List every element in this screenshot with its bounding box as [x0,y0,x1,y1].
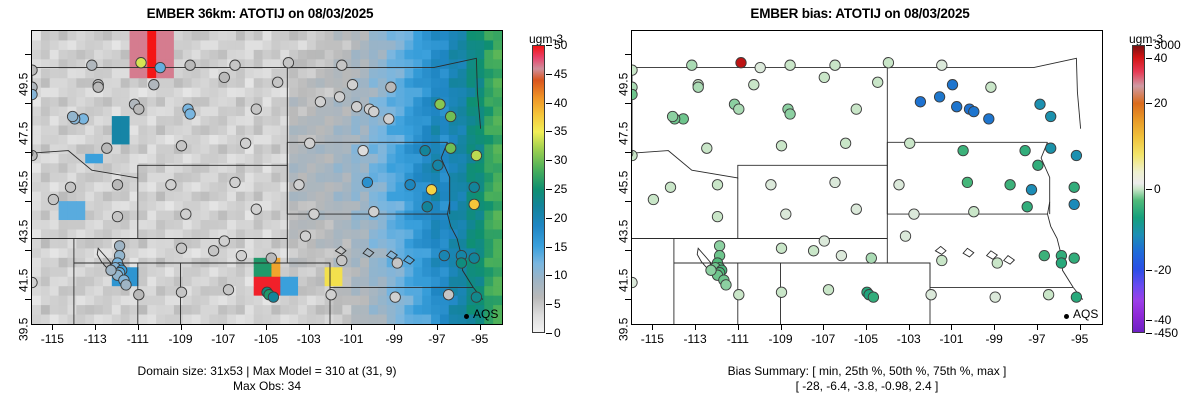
model-footer: Domain size: 31x53 | Max Model = 310 at … [0,364,534,394]
x-tick-label: -97 [428,332,445,346]
model-panel: EMBER 36km: ATOTIJ on 08/03/2025 AQS -11… [0,0,600,409]
y-tick [25,54,31,55]
x-tick [695,325,696,330]
model-colorbar-gradient [532,45,545,333]
y-tick [625,103,631,104]
colorbar-tick [546,189,552,190]
y-tick [625,299,631,300]
y-tick [25,299,31,300]
bias-footer-line1: Bias Summary: [ min, 25th %, 50th %, 75t… [600,364,1134,379]
colorbar-tick-label: 45 [554,67,567,81]
x-tick-label: -115 [641,332,664,346]
x-tick-label: -113 [684,332,707,346]
aqs-legend-label: AQS [1073,307,1098,321]
x-tick [951,325,952,330]
colorbar-tick-label: -450 [1154,326,1178,340]
colorbar-tick-label: 30 [554,153,567,167]
colorbar-tick-label: 0 [1154,182,1161,196]
bias-x-axis: -115-113-111-109-107-105-103-101-99-97-9… [631,325,1103,355]
x-tick-label: -109 [169,332,193,346]
colorbar-tick [1146,103,1152,104]
colorbar-tick [546,304,552,305]
colorbar-tick [1146,45,1152,46]
x-tick [309,325,310,330]
colorbar-tick-label: 3000 [1154,38,1181,52]
y-tick-label: 49.5 [16,73,30,96]
x-tick [738,325,739,330]
bias-panel: EMBER bias: ATOTIJ on 08/03/2025 AQS -11… [600,0,1200,409]
bias-y-axis: 49.547.545.543.541.539.5 [600,30,631,325]
colorbar-tick [546,218,552,219]
model-y-axis: 49.547.545.543.541.539.5 [0,30,31,325]
colorbar-tick [546,275,552,276]
colorbar-tick-label: 35 [554,124,567,138]
y-tick [25,152,31,153]
aqs-legend-label: AQS [473,307,498,321]
y-tick [25,201,31,202]
colorbar-tick [1146,270,1152,271]
colorbar-tick [546,160,552,161]
x-tick-label: -115 [41,332,64,346]
y-tick [625,152,631,153]
x-tick-label: -97 [1028,332,1045,346]
x-tick [994,325,995,330]
x-tick-label: -101 [939,332,963,346]
colorbar-tick-label: 20 [1154,96,1167,110]
colorbar-tick-label: 25 [554,182,567,196]
x-tick [266,325,267,330]
x-tick [823,325,824,330]
colorbar-tick [546,333,552,334]
x-tick [181,325,182,330]
y-tick-label: 45.5 [16,171,30,194]
x-tick-label: -105 [254,332,278,346]
x-tick [95,325,96,330]
colorbar-tick-label: 20 [554,211,567,225]
colorbar-tick-label: 50 [554,38,567,52]
y-tick-label: 39.5 [16,317,30,340]
colorbar-tick [546,45,552,46]
bias-map-plot[interactable]: AQS [631,30,1103,325]
x-tick [866,325,867,330]
colorbar-tick-label: 40 [554,96,567,110]
colorbar-tick-label: 0 [554,326,561,340]
x-tick [909,325,910,330]
y-tick [25,250,31,251]
aqs-legend-dot [464,314,469,319]
x-tick-label: -101 [339,332,363,346]
x-tick [394,325,395,330]
x-tick-label: -109 [769,332,793,346]
x-tick [1080,325,1081,330]
x-tick-label: -95 [1071,332,1088,346]
x-tick-label: -111 [127,332,149,346]
x-tick-label: -105 [854,332,878,346]
x-tick [781,325,782,330]
bias-footer-line2: [ -28, -6.4, -3.8, -0.98, 2.4 ] [600,379,1134,394]
x-tick-label: -107 [811,332,835,346]
x-tick [1037,325,1038,330]
y-tick-label: 41.5 [616,268,630,291]
y-tick-label: 43.5 [16,220,30,243]
y-tick-label: 39.5 [616,317,630,340]
colorbar-tick-label: 40 [1154,51,1167,65]
x-tick-label: -99 [386,332,403,346]
x-tick [223,325,224,330]
bias-colorbar-gradient [1132,45,1145,333]
colorbar-tick-label: 10 [554,268,567,282]
x-tick-label: -111 [727,332,749,346]
y-tick-label: 43.5 [616,220,630,243]
x-tick-label: -103 [897,332,921,346]
colorbar-tick-label: 5 [554,297,561,311]
bias-map-svg [632,31,1102,324]
colorbar-tick [546,131,552,132]
x-tick-label: -113 [84,332,107,346]
x-tick [351,325,352,330]
colorbar-tick [1146,58,1152,59]
bias-footer: Bias Summary: [ min, 25th %, 50th %, 75t… [600,364,1134,394]
x-tick [480,325,481,330]
colorbar-tick [546,103,552,104]
y-tick-label: 45.5 [616,171,630,194]
x-tick [138,325,139,330]
y-tick [625,250,631,251]
model-footer-line1: Domain size: 31x53 | Max Model = 310 at … [0,364,534,379]
model-footer-line2: Max Obs: 34 [0,379,534,394]
y-tick-label: 41.5 [16,268,30,291]
model-x-axis: -115-113-111-109-107-105-103-101-99-97-9… [31,325,503,355]
y-tick-label: 47.5 [16,122,30,145]
y-tick [625,54,631,55]
x-tick [652,325,653,330]
model-map-plot[interactable]: AQS [31,30,503,325]
x-tick-label: -107 [211,332,235,346]
aqs-legend-dot [1064,314,1069,319]
x-tick-label: -99 [986,332,1003,346]
x-tick [52,325,53,330]
colorbar-tick [1146,333,1152,334]
colorbar-tick [546,247,552,248]
right-panel-title: EMBER bias: ATOTIJ on 08/03/2025 [600,6,1120,21]
y-tick [625,201,631,202]
y-tick [25,103,31,104]
colorbar-tick-label: 15 [554,240,567,254]
colorbar-tick [1146,189,1152,190]
colorbar-tick [546,74,552,75]
model-map-svg [32,31,502,324]
x-tick [437,325,438,330]
colorbar-tick [1146,320,1152,321]
colorbar-tick-label: -20 [1154,263,1171,277]
x-tick-label: -103 [297,332,321,346]
x-tick-label: -95 [471,332,488,346]
y-tick-label: 49.5 [616,73,630,96]
left-panel-title: EMBER 36km: ATOTIJ on 08/03/2025 [0,6,520,21]
colorbar-tick-label: -40 [1154,313,1171,327]
y-tick-label: 47.5 [616,122,630,145]
